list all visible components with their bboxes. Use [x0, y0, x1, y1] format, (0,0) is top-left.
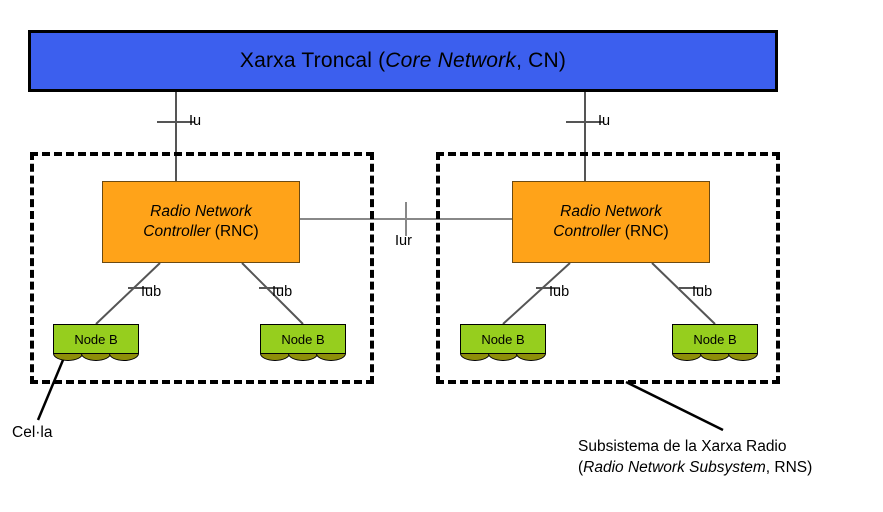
interface-label-iub-4: Iub	[692, 284, 712, 300]
interface-label-iu-left: Iu	[189, 113, 201, 129]
rns-leader-line	[626, 382, 723, 430]
node-b-label: Node B	[74, 332, 117, 347]
diagram-canvas: Xarxa Troncal (Core Network, CN) Radio N…	[0, 0, 883, 512]
interface-label-iur: Iur	[395, 233, 412, 249]
interface-label-iub-2: Iub	[272, 284, 292, 300]
interface-label-iub-3: Iub	[549, 284, 569, 300]
node-b-2[interactable]: Node B	[260, 324, 346, 369]
caption-cell-text: Cel·la	[12, 424, 52, 441]
rnc-label-line2: Controller (RNC)	[143, 222, 258, 242]
node-b-label: Node B	[481, 332, 524, 347]
node-b-body: Node B	[460, 324, 546, 354]
node-b-body: Node B	[53, 324, 139, 354]
node-b-1[interactable]: Node B	[53, 324, 139, 369]
caption-rns-line2: (Radio Network Subsystem, RNS)	[578, 458, 812, 479]
caption-cell: Cel·la	[12, 423, 52, 444]
interface-label-iub-1: Iub	[141, 284, 161, 300]
core-network-label: Xarxa Troncal (Core Network, CN)	[240, 49, 566, 73]
rnc-box-left[interactable]: Radio Network Controller (RNC)	[102, 181, 300, 263]
node-b-4[interactable]: Node B	[672, 324, 758, 369]
caption-rns: Subsistema de la Xarxa Radio (Radio Netw…	[578, 437, 812, 479]
node-b-3[interactable]: Node B	[460, 324, 546, 369]
rnc-label-line1: Radio Network	[560, 202, 662, 222]
rnc-box-right[interactable]: Radio Network Controller (RNC)	[512, 181, 710, 263]
node-b-body: Node B	[260, 324, 346, 354]
rnc-label-line1: Radio Network	[150, 202, 252, 222]
core-network-box[interactable]: Xarxa Troncal (Core Network, CN)	[28, 30, 778, 92]
interface-label-iu-right: Iu	[598, 113, 610, 129]
node-b-label: Node B	[693, 332, 736, 347]
rnc-label-line2: Controller (RNC)	[553, 222, 668, 242]
node-b-label: Node B	[281, 332, 324, 347]
node-b-body: Node B	[672, 324, 758, 354]
caption-rns-line1: Subsistema de la Xarxa Radio	[578, 437, 812, 458]
